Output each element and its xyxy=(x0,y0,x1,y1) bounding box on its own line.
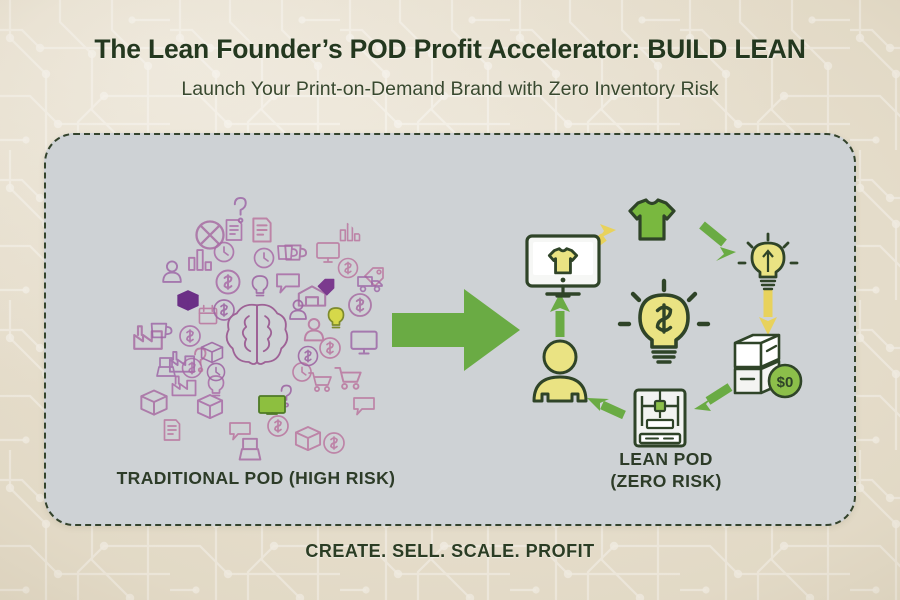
header: The Lean Founder’s POD Profit Accelerato… xyxy=(0,34,900,101)
traditional-pod-label: TRADITIONAL POD (HIGH RISK) xyxy=(86,468,426,489)
zero-cost-badge-text: $0 xyxy=(777,374,794,391)
arrow-customer-to-store xyxy=(550,293,570,337)
online-store-monitor-icon xyxy=(527,236,599,296)
arrow-design-to-idea xyxy=(702,225,736,261)
page-subtitle: Launch Your Print-on-Demand Brand with Z… xyxy=(0,78,900,101)
3d-printer-icon xyxy=(635,390,685,446)
arrow-print-to-customer xyxy=(587,398,624,415)
page-title: The Lean Founder’s POD Profit Accelerato… xyxy=(0,34,900,65)
comparison-panel: TRADITIONAL POD (HIGH RISK) xyxy=(44,133,856,526)
traditional-pod-icon-cluster xyxy=(112,190,402,480)
lean-pod-label-line2: (ZERO RISK) xyxy=(541,470,791,492)
transition-right-arrow-icon xyxy=(386,275,526,385)
lean-pod-label-line1: LEAN POD xyxy=(541,448,791,470)
green-tshirt-icon xyxy=(630,200,674,239)
arrow-stock-to-print xyxy=(694,387,730,411)
lightbulb-icon xyxy=(739,234,797,289)
customer-person-icon xyxy=(534,341,586,401)
arrow-idea-to-stock xyxy=(759,290,777,335)
dollar-lightbulb-icon xyxy=(620,281,708,362)
lean-pod-label: LEAN POD (ZERO RISK) xyxy=(541,448,791,493)
zero-inventory-boxes-icon: $0 xyxy=(735,335,801,397)
footer-tagline: CREATE. SELL. SCALE. PROFIT xyxy=(0,541,900,562)
lean-pod-cycle-diagram: $0 xyxy=(516,185,816,460)
